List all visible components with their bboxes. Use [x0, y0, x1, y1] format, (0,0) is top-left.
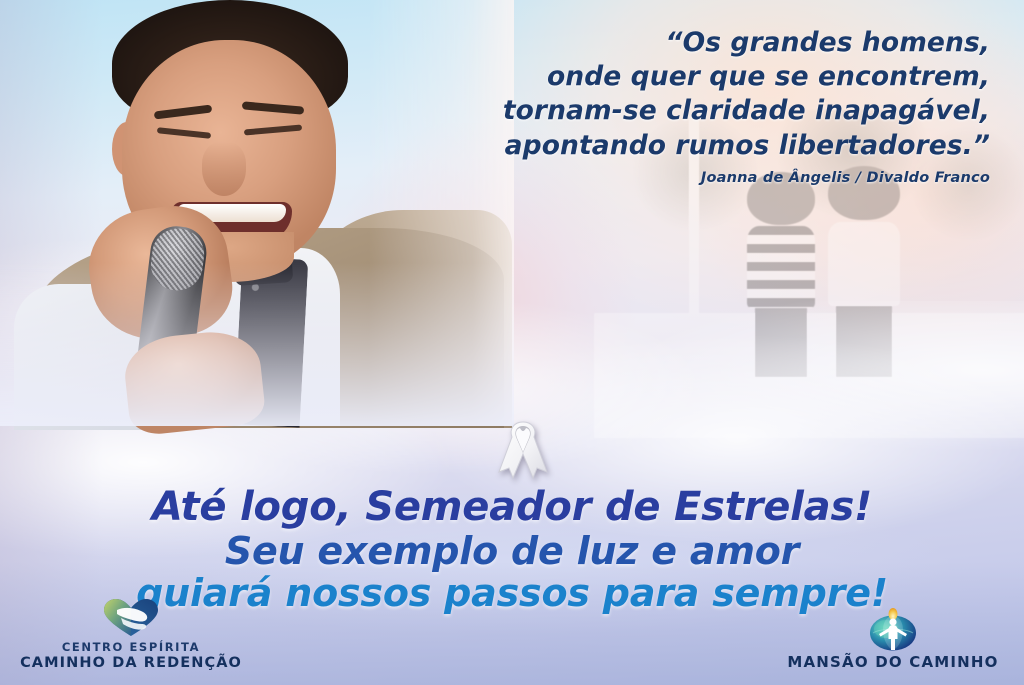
portrait-nose [202, 142, 246, 196]
heart-hands-icon [6, 598, 256, 638]
logo-left-line-1: CENTRO ESPÍRITA [6, 640, 256, 654]
headline-line-2: Seu exemplo de luz e amor [0, 532, 1024, 572]
quote-text: “Os grandes homens, onde quer que se enc… [430, 26, 990, 163]
quote-line-1: “Os grandes homens, [430, 26, 990, 60]
headline-message: Até logo, Semeador de Estrelas! Seu exem… [0, 487, 1024, 614]
globe-figure-flame-icon [768, 609, 1018, 649]
logo-centro-espirita: CENTRO ESPÍRITA CAMINHO DA REDENÇÃO [6, 598, 256, 671]
white-mourning-ribbon-icon [487, 410, 559, 486]
quote-line-4: apontando rumos libertadores.” [430, 129, 990, 163]
memorial-poster: “Os grandes homens, onde quer que se enc… [0, 0, 1024, 685]
logo-right-line-1: MANSÃO DO CAMINHO [768, 653, 1018, 671]
quote-line-3: tornam-se claridade inapagável, [430, 94, 990, 128]
logo-left-line-2: CAMINHO DA REDENÇÃO [6, 655, 256, 671]
microphone-grille [148, 226, 207, 294]
quote-attribution: Joanna de Ângelis / Divaldo Franco [430, 170, 990, 186]
logo-mansao-do-caminho: MANSÃO DO CAMINHO [768, 609, 1018, 671]
headline-line-1: Até logo, Semeador de Estrelas! [0, 487, 1024, 529]
quote-line-2: onde quer que se encontrem, [430, 60, 990, 94]
